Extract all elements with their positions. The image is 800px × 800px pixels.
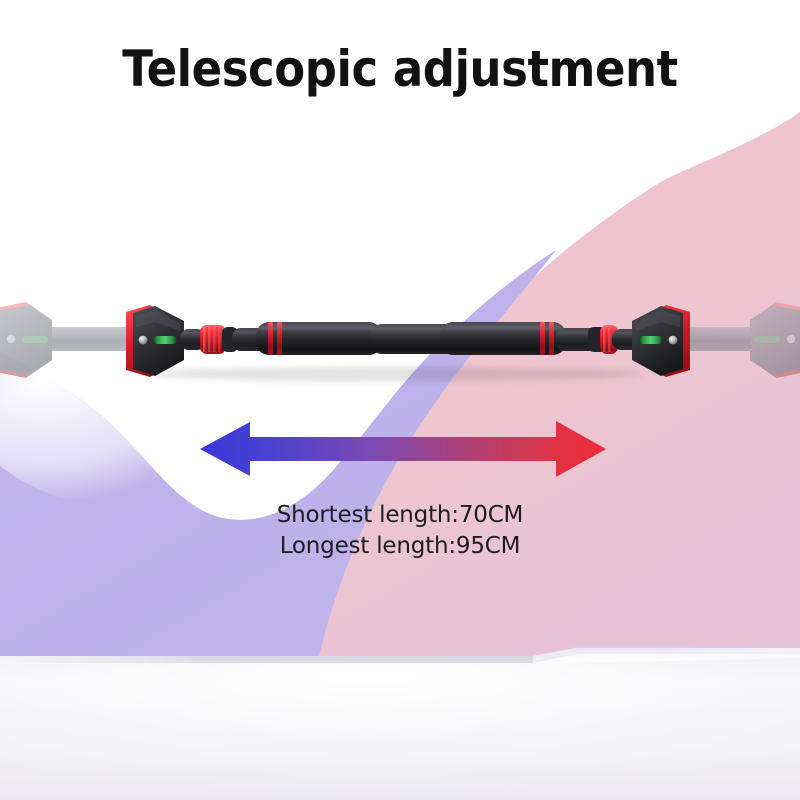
double-headed-length-arrow bbox=[198, 418, 608, 480]
banner-canvas: Telescopic adjustment bbox=[0, 0, 800, 800]
grip-section-right bbox=[440, 322, 566, 355]
longest-length-label: Longest length:95CM bbox=[0, 531, 800, 562]
ghost-plate-left bbox=[0, 302, 52, 378]
bubble-level-left bbox=[153, 336, 177, 344]
arrow-shape bbox=[200, 421, 606, 477]
telescopic-pull-up-bar bbox=[0, 0, 800, 800]
bubble-level-right bbox=[639, 336, 663, 344]
spec-caption: Shortest length:70CM Longest length:95CM bbox=[0, 500, 800, 562]
ghost-plate-right bbox=[750, 302, 800, 378]
length-range-arrow bbox=[198, 418, 608, 480]
mounting-plate-right bbox=[632, 305, 690, 377]
product-shadow bbox=[145, 367, 645, 381]
shortest-length-label: Shortest length:70CM bbox=[0, 500, 800, 531]
product-illustration bbox=[0, 0, 800, 800]
plate-screw-left bbox=[139, 336, 148, 345]
plate-screw-right bbox=[669, 336, 678, 345]
grip-section-left bbox=[256, 322, 382, 355]
mounting-plate-left bbox=[126, 305, 184, 377]
